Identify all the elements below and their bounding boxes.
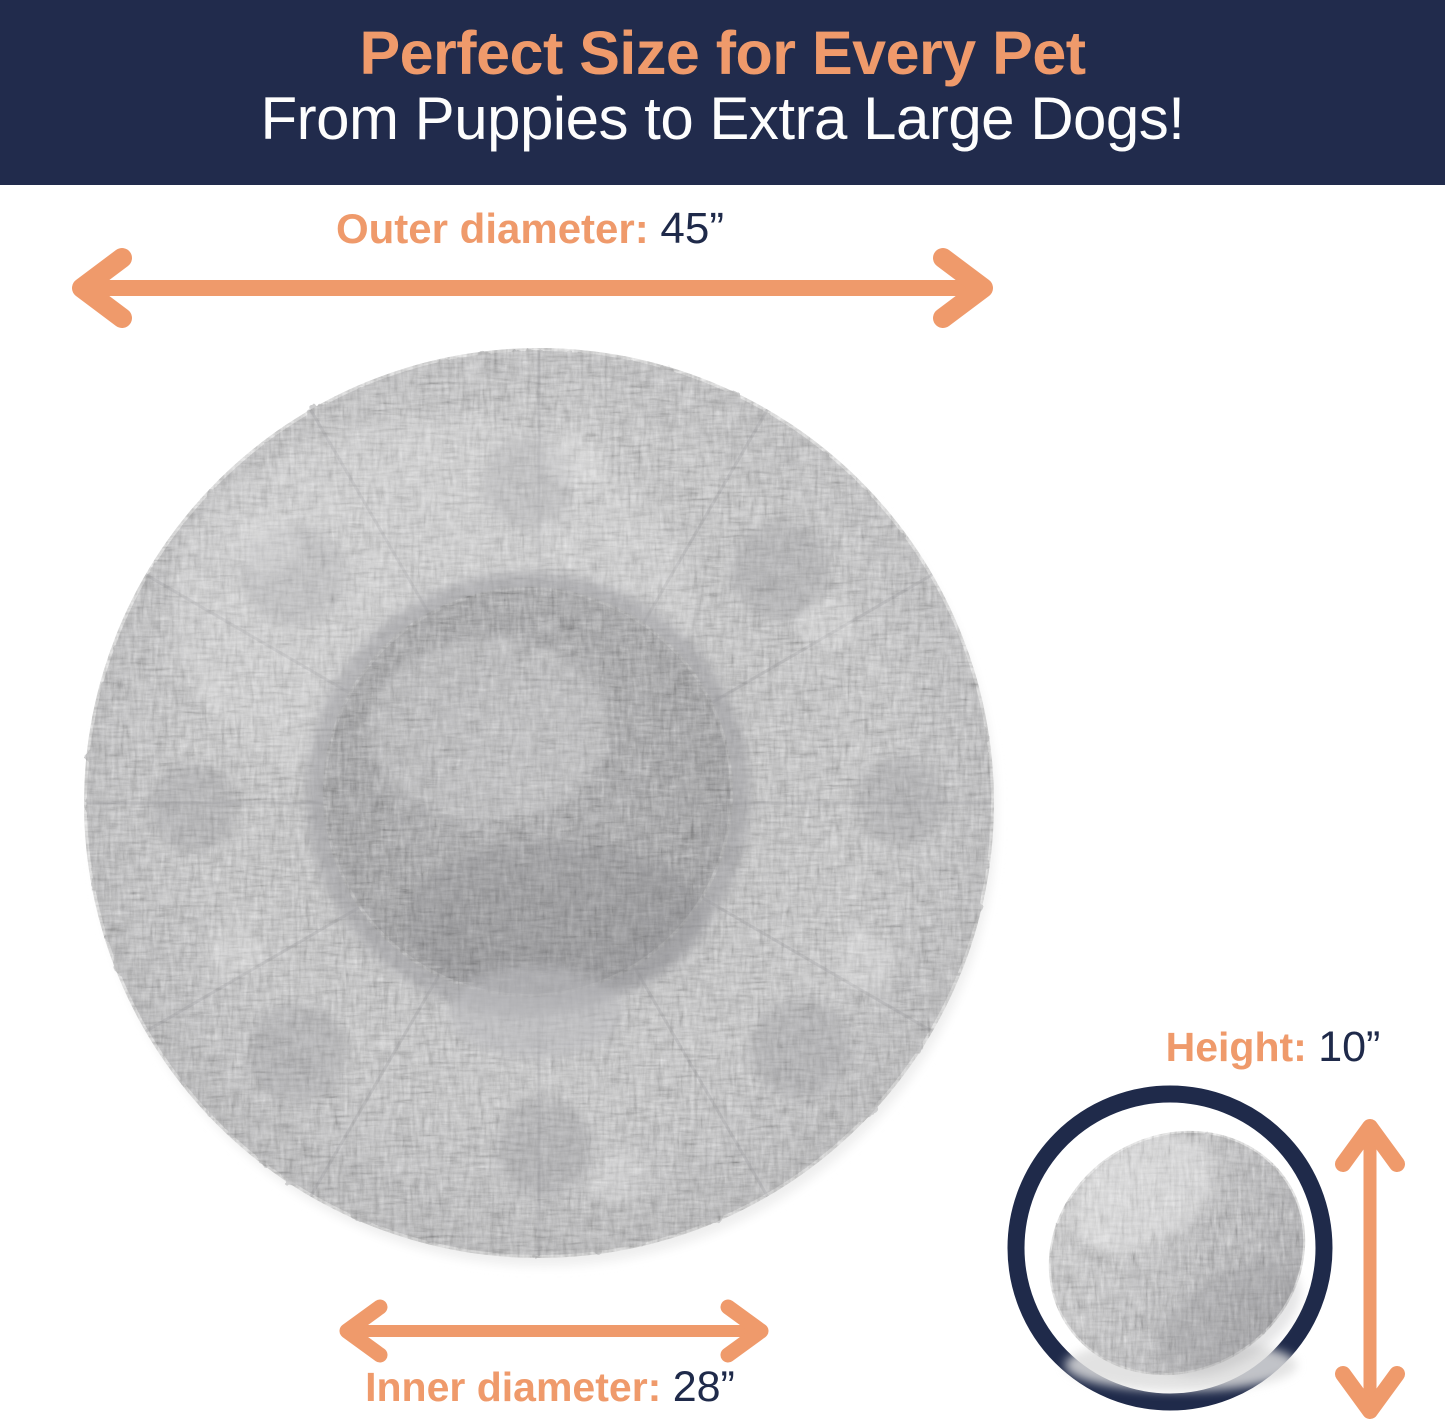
height-value: 10”	[1318, 1023, 1380, 1071]
outer-diameter-value: 45”	[660, 204, 724, 253]
header-banner: Perfect Size for Every Pet From Puppies …	[0, 0, 1445, 185]
product-side-view-inset	[1005, 1083, 1335, 1413]
page-subtitle: From Puppies to Extra Large Dogs!	[0, 88, 1445, 150]
height-arrow	[1333, 1112, 1407, 1421]
cushion-bolster-seam	[450, 966, 622, 1058]
page-title: Perfect Size for Every Pet	[0, 22, 1445, 84]
inner-diameter-label: Inner diameter:	[365, 1364, 661, 1410]
outer-diameter-caption: Outer diameter: 45”	[0, 207, 1060, 251]
inner-diameter-value: 28”	[673, 1363, 735, 1411]
height-caption: Height: 10”	[1103, 1026, 1443, 1069]
outer-diameter-arrow	[60, 252, 1005, 324]
outer-diameter-label: Outer diameter:	[336, 205, 649, 252]
height-label: Height:	[1166, 1024, 1307, 1070]
inner-diameter-caption: Inner diameter: 28”	[300, 1366, 800, 1409]
product-top-view	[58, 322, 1020, 1284]
infographic-frame: Perfect Size for Every Pet From Puppies …	[0, 0, 1445, 1421]
inner-diameter-arrow	[330, 1303, 778, 1359]
